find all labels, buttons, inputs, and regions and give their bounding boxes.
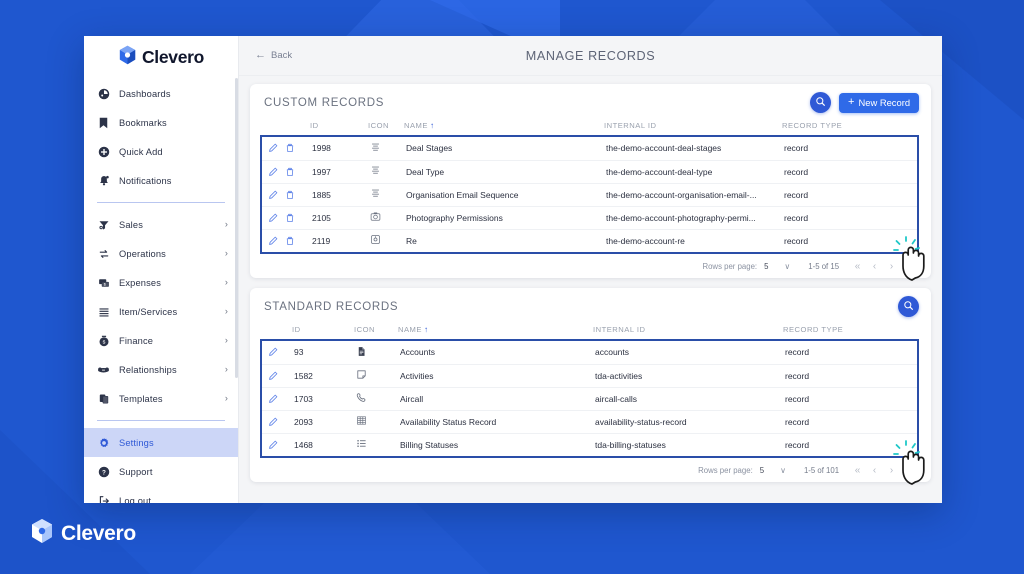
svg-text:$: $ — [102, 339, 105, 345]
col-record-type[interactable]: RECORD TYPE — [782, 121, 919, 135]
copy-icon — [97, 392, 110, 405]
custom-records-actions: + New Record — [810, 92, 919, 113]
row-actions-cell — [262, 183, 312, 206]
next-page-button[interactable]: › — [883, 261, 900, 272]
chevron-right-icon: › — [225, 220, 228, 229]
sidebar-item-operations[interactable]: Operations › — [84, 239, 238, 268]
row-id: 1997 — [312, 160, 370, 183]
custom-records-highlight-box: 1998Deal Stagesthe-demo-account-deal-sta… — [260, 135, 919, 254]
table-row[interactable]: 1998Deal Stagesthe-demo-account-deal-sta… — [262, 137, 917, 160]
trash-delete-icon[interactable] — [285, 167, 295, 177]
row-record-type: record — [784, 137, 917, 160]
row-icon-cell — [370, 206, 406, 229]
col-actions — [260, 121, 310, 135]
sidebar-item-label: Log out — [119, 496, 228, 503]
col-name-label: NAME — [398, 325, 422, 334]
custom-records-search-button[interactable] — [810, 92, 831, 113]
page-title: MANAGE RECORDS — [239, 49, 942, 63]
sidebar-item-label: Relationships — [119, 365, 216, 375]
col-icon[interactable]: ICON — [354, 325, 398, 339]
top-bar: ← Back MANAGE RECORDS — [239, 36, 942, 76]
row-icon-cell — [356, 410, 400, 433]
pencil-edit-icon[interactable] — [268, 347, 278, 357]
chevron-right-icon: › — [225, 365, 228, 374]
row-record-type: record — [784, 229, 917, 252]
custom-records-pagination: Rows per page: 5 ∨ 1-5 of 15 « ‹ › » — [250, 254, 931, 278]
first-page-button[interactable]: « — [849, 465, 866, 476]
footer-logo: Clevero — [30, 518, 136, 549]
rows-per-page-label: Rows per page: — [702, 262, 757, 271]
row-internal-id: tda-billing-statuses — [595, 433, 785, 456]
col-internal-id[interactable]: INTERNAL ID — [593, 325, 783, 339]
clock-dollar-icon: $ — [97, 334, 110, 347]
rows-per-page-value[interactable]: 5 — [760, 466, 764, 475]
sidebar-item-label: Notifications — [119, 176, 228, 186]
row-name: Deal Type — [406, 160, 606, 183]
row-name: Billing Statuses — [400, 433, 595, 456]
chevron-right-icon: › — [225, 394, 228, 403]
back-label: Back — [271, 50, 292, 61]
trash-delete-icon[interactable] — [285, 236, 295, 246]
plus-icon: + — [848, 97, 854, 108]
align-center-lines-icon — [370, 168, 381, 178]
row-icon-cell — [356, 387, 400, 410]
custom-records-table-wrap: ID ICON NAME↑ INTERNAL ID RECORD TYPE 19… — [250, 121, 931, 254]
row-record-type: record — [785, 364, 917, 387]
sidebar-item-label: Dashboards — [119, 89, 228, 99]
rows-per-page-label: Rows per page: — [698, 466, 753, 475]
row-id: 93 — [294, 341, 356, 364]
prev-page-button[interactable]: ‹ — [866, 465, 883, 476]
standard-records-highlight-box: 93Accountsaccountsrecord1582Activitiestd… — [260, 339, 919, 458]
row-actions-cell — [262, 387, 294, 410]
row-record-type: record — [784, 160, 917, 183]
table-row[interactable]: 2119Rethe-demo-account-rerecord — [262, 229, 917, 252]
trash-delete-icon[interactable] — [285, 213, 295, 223]
row-icon-cell — [356, 341, 400, 364]
standard-records-header: STANDARD RECORDS — [250, 288, 931, 325]
chevron-right-icon: › — [225, 278, 228, 287]
row-id: 1885 — [312, 183, 370, 206]
page-range: 1-5 of 15 — [808, 262, 839, 271]
sidebar-item-label: Sales — [119, 220, 216, 230]
row-name: Organisation Email Sequence — [406, 183, 606, 206]
chevron-right-icon: › — [225, 249, 228, 258]
row-name: Availability Status Record — [400, 410, 595, 433]
sidebar-divider-top — [97, 202, 225, 203]
standard-records-table: ID ICON NAME↑ INTERNAL ID RECORD TYPE — [260, 325, 919, 339]
col-name[interactable]: NAME↑ — [404, 121, 604, 135]
standard-records-pagination: Rows per page: 5 ∨ 1-5 of 101 « ‹ › » — [250, 458, 931, 482]
standard-records-search-button[interactable] — [898, 296, 919, 317]
standard-records-actions — [898, 296, 919, 317]
row-name: Photography Permissions — [406, 206, 606, 229]
gear-icon — [97, 436, 110, 449]
table-row[interactable]: 1885Organisation Email Sequencethe-demo-… — [262, 183, 917, 206]
logout-icon — [97, 494, 110, 503]
row-record-type: record — [784, 206, 917, 229]
table-row[interactable]: 1997Deal Typethe-demo-account-deal-typer… — [262, 160, 917, 183]
sidebar-item-settings[interactable]: Settings — [84, 428, 238, 457]
row-actions-cell — [262, 137, 312, 160]
next-page-button[interactable]: › — [883, 465, 900, 476]
footer-logo-name: Clevero — [61, 522, 136, 546]
custom-records-card: CUSTOM RECORDS + New Record — [250, 84, 931, 278]
sidebar-divider-bottom — [97, 420, 225, 421]
pencil-edit-icon[interactable] — [268, 190, 278, 200]
sidebar-item-relationships[interactable]: Relationships › — [84, 355, 238, 384]
sidebar-item-label: Expenses — [119, 278, 216, 288]
plus-circle-icon — [97, 145, 110, 158]
sidebar-item-finance[interactable]: $ Finance › — [84, 326, 238, 355]
row-icon-cell — [356, 364, 400, 387]
col-internal-id[interactable]: INTERNAL ID — [604, 121, 782, 135]
sidebar-item-label: Settings — [119, 438, 228, 448]
table-header-row: ID ICON NAME↑ INTERNAL ID RECORD TYPE — [260, 325, 919, 339]
money-bill-icon: $ — [97, 276, 110, 289]
row-record-type: record — [785, 387, 917, 410]
bookmark-icon — [97, 116, 110, 129]
align-center-lines-icon — [370, 191, 381, 201]
col-name[interactable]: NAME↑ — [398, 325, 593, 339]
bell-icon — [97, 174, 110, 187]
row-id: 2105 — [312, 206, 370, 229]
row-internal-id: tda-activities — [595, 364, 785, 387]
row-name: Accounts — [400, 341, 595, 364]
standard-records-table-wrap: ID ICON NAME↑ INTERNAL ID RECORD TYPE 93… — [250, 325, 931, 458]
row-record-type: record — [785, 433, 917, 456]
custom-records-table: ID ICON NAME↑ INTERNAL ID RECORD TYPE — [260, 121, 919, 135]
row-actions-cell — [262, 364, 294, 387]
prev-page-button[interactable]: ‹ — [866, 261, 883, 272]
sidebar-nav: Dashboards Bookmarks Quick Add Notificat… — [84, 73, 238, 503]
row-internal-id: the-demo-account-organisation-email-... — [606, 183, 784, 206]
row-internal-id: accounts — [595, 341, 785, 364]
chevron-down-icon[interactable]: ∨ — [780, 466, 786, 475]
custom-records-header: CUSTOM RECORDS + New Record — [250, 84, 931, 121]
row-icon-cell — [370, 183, 406, 206]
sidebar-item-label: Quick Add — [119, 147, 228, 157]
pencil-edit-icon[interactable] — [268, 213, 278, 223]
table-header-row: ID ICON NAME↑ INTERNAL ID RECORD TYPE — [260, 121, 919, 135]
chevron-right-icon: › — [225, 307, 228, 316]
sort-asc-icon: ↑ — [430, 121, 435, 130]
back-button[interactable]: ← Back — [255, 50, 292, 61]
custom-records-title: CUSTOM RECORDS — [264, 97, 384, 109]
pencil-edit-icon[interactable] — [268, 143, 278, 153]
row-actions-cell — [262, 410, 294, 433]
col-actions — [260, 325, 292, 339]
search-icon — [903, 298, 914, 316]
pencil-edit-icon[interactable] — [268, 236, 278, 246]
row-id: 1998 — [312, 137, 370, 160]
pencil-edit-icon[interactable] — [268, 440, 278, 450]
row-internal-id: aircall-calls — [595, 387, 785, 410]
standard-records-title: STANDARD RECORDS — [264, 301, 398, 313]
pencil-edit-icon[interactable] — [268, 394, 278, 404]
row-icon-cell — [356, 433, 400, 456]
sidebar: Clevero Dashboards Bookmarks Quick Add N… — [84, 36, 239, 503]
camera-icon — [370, 214, 381, 224]
row-actions-cell — [262, 206, 312, 229]
row-id: 1582 — [294, 364, 356, 387]
standard-records-card: STANDARD RECORDS ID — [250, 288, 931, 482]
sidebar-item-sales[interactable]: Sales › — [84, 210, 238, 239]
row-record-type: record — [785, 410, 917, 433]
row-name: Aircall — [400, 387, 595, 410]
sidebar-item-templates[interactable]: Templates › — [84, 384, 238, 413]
row-name: Deal Stages — [406, 137, 606, 160]
row-icon-cell — [370, 160, 406, 183]
col-id[interactable]: ID — [310, 121, 368, 135]
new-record-label: New Record — [858, 97, 910, 108]
sidebar-item-logout[interactable]: Log out — [84, 486, 238, 503]
trash-delete-icon[interactable] — [285, 190, 295, 200]
brand-name: Clevero — [142, 47, 204, 68]
pencil-edit-icon[interactable] — [268, 167, 278, 177]
sidebar-item-label: Finance — [119, 336, 216, 346]
sidebar-item-bookmarks[interactable]: Bookmarks — [84, 108, 238, 137]
chevron-right-icon: › — [225, 336, 228, 345]
row-actions-cell — [262, 229, 312, 252]
sidebar-item-notifications[interactable]: Notifications — [84, 166, 238, 195]
app-window: Clevero Dashboards Bookmarks Quick Add N… — [84, 36, 942, 503]
sidebar-item-item-services[interactable]: Item/Services › — [84, 297, 238, 326]
table-row[interactable]: 1582Activitiestda-activitiesrecord — [262, 364, 917, 387]
help-circle-icon: ? — [97, 465, 110, 478]
clevero-cube-logo-icon — [30, 518, 54, 549]
handshake-icon — [97, 363, 110, 376]
sidebar-item-expenses[interactable]: $ Expenses › — [84, 268, 238, 297]
col-name-label: NAME — [404, 121, 428, 130]
sidebar-item-label: Bookmarks — [119, 118, 228, 128]
arrow-left-icon: ← — [255, 50, 266, 61]
row-record-type: record — [784, 183, 917, 206]
sticky-note-icon — [356, 372, 367, 382]
row-internal-id: the-demo-account-re — [606, 229, 784, 252]
row-id: 2093 — [294, 410, 356, 433]
row-id: 1468 — [294, 433, 356, 456]
row-id: 2119 — [312, 229, 370, 252]
refresh-cycle-icon — [97, 247, 110, 260]
row-internal-id: availability-status-record — [595, 410, 785, 433]
row-internal-id: the-demo-account-deal-type — [606, 160, 784, 183]
page-range: 1-5 of 101 — [804, 466, 839, 475]
row-name: Re — [406, 229, 606, 252]
sidebar-item-label: Item/Services — [119, 307, 216, 317]
row-name: Activities — [400, 364, 595, 387]
last-page-button[interactable]: » — [900, 261, 917, 272]
dashboard-icon — [97, 87, 110, 100]
sidebar-item-label: Operations — [119, 249, 216, 259]
align-center-lines-icon — [370, 145, 381, 155]
row-id: 1703 — [294, 387, 356, 410]
standard-records-body-table: 93Accountsaccountsrecord1582Activitiestd… — [262, 341, 917, 456]
sidebar-item-dashboards[interactable]: Dashboards — [84, 79, 238, 108]
table-row[interactable]: 1468Billing Statusestda-billing-statuses… — [262, 433, 917, 456]
col-icon[interactable]: ICON — [368, 121, 404, 135]
trash-delete-icon[interactable] — [285, 143, 295, 153]
chevron-down-icon[interactable]: ∨ — [784, 262, 790, 271]
row-actions-cell — [262, 160, 312, 183]
svg-text:?: ? — [102, 469, 106, 476]
table-row[interactable]: 1703Aircallaircall-callsrecord — [262, 387, 917, 410]
sort-asc-icon: ↑ — [424, 325, 429, 334]
last-page-button[interactable]: » — [900, 465, 917, 476]
table-row[interactable]: 93Accountsaccountsrecord — [262, 341, 917, 364]
first-page-button[interactable]: « — [849, 261, 866, 272]
file-document-icon — [356, 349, 367, 359]
row-internal-id: the-demo-account-deal-stages — [606, 137, 784, 160]
new-record-button[interactable]: + New Record — [839, 93, 919, 113]
sidebar-item-quick-add[interactable]: Quick Add — [84, 137, 238, 166]
row-internal-id: the-demo-account-photography-permi... — [606, 206, 784, 229]
table-row[interactable]: 2105Photography Permissionsthe-demo-acco… — [262, 206, 917, 229]
bullet-list-icon — [356, 441, 367, 451]
sidebar-item-support[interactable]: ? Support — [84, 457, 238, 486]
clevero-cube-logo-icon — [118, 45, 137, 70]
row-actions-cell — [262, 341, 294, 364]
row-actions-cell — [262, 433, 294, 456]
pencil-edit-icon[interactable] — [268, 417, 278, 427]
sidebar-item-label: Support — [119, 467, 228, 477]
list-lines-icon — [97, 305, 110, 318]
grid-table-icon — [356, 418, 367, 428]
custom-records-body-table: 1998Deal Stagesthe-demo-account-deal-sta… — [262, 137, 917, 252]
main-area: ← Back MANAGE RECORDS CUSTOM RECORDS + N… — [239, 36, 942, 503]
col-id[interactable]: ID — [292, 325, 354, 339]
funnel-icon — [97, 218, 110, 231]
sidebar-scrollbar[interactable] — [235, 78, 238, 378]
square-dot-icon — [370, 237, 381, 247]
search-icon — [815, 94, 826, 112]
content-area: CUSTOM RECORDS + New Record — [239, 76, 942, 503]
brand-logo[interactable]: Clevero — [84, 36, 238, 73]
row-icon-cell — [370, 137, 406, 160]
phone-icon — [356, 395, 367, 405]
col-record-type[interactable]: RECORD TYPE — [783, 325, 919, 339]
row-icon-cell — [370, 229, 406, 252]
sidebar-item-label: Templates — [119, 394, 216, 404]
row-record-type: record — [785, 341, 917, 364]
table-row[interactable]: 2093Availability Status Recordavailabili… — [262, 410, 917, 433]
rows-per-page-value[interactable]: 5 — [764, 262, 768, 271]
pencil-edit-icon[interactable] — [268, 371, 278, 381]
